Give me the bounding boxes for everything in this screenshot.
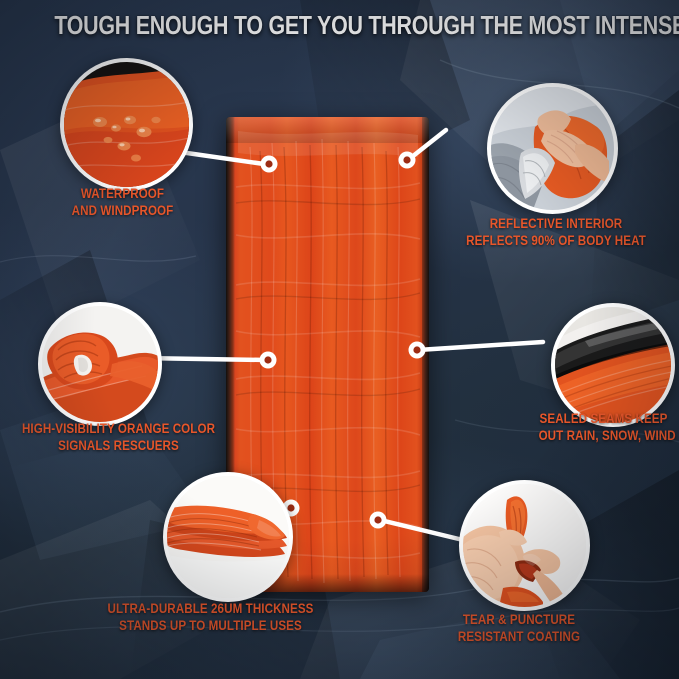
page-title: TOUGH ENOUGH TO GET YOU THROUGH THE MOST… [54, 14, 624, 40]
feature-label-high-visibility-line2: SIGNALS RESCUERS [13, 437, 224, 454]
feature-label-tear-resistant-line1: TEAR & PUNCTURE [463, 612, 575, 627]
feature-label-tear-resistant-line2: RESISTANT COATING [437, 628, 600, 645]
feature-label-ultra-durable: ULTRA-DURABLE 26UM THICKNESS STANDS UP T… [103, 600, 319, 634]
feature-label-sealed-seams-line2: OUT RAIN, SNOW, WIND [539, 427, 669, 444]
feature-label-ultra-durable-line1: ULTRA-DURABLE 26UM THICKNESS [107, 601, 313, 616]
callout-circle-high-visibility [38, 302, 162, 426]
product-infographic-poster: TOUGH ENOUGH TO GET YOU THROUGH THE MOST… [0, 0, 679, 679]
callout-circle-waterproof [60, 58, 193, 191]
feature-label-high-visibility: HIGH-VISIBILITY ORANGE COLOR SIGNALS RES… [13, 420, 224, 454]
feature-label-waterproof: WATERPROOF AND WINDPROOF [49, 185, 196, 219]
feature-label-sealed-seams: SEALED SEAMS KEEP OUT RAIN, SNOW, WIND [539, 410, 669, 444]
folded-orange-bivy-icon [42, 306, 158, 422]
hand-puncture-test-icon [463, 484, 586, 607]
feature-label-reflective-interior-line1: REFLECTIVE INTERIOR [490, 216, 623, 231]
feature-label-reflective-interior: REFLECTIVE INTERIOR REFLECTS 90% OF BODY… [455, 215, 658, 249]
callout-circle-reflective-interior [487, 83, 618, 214]
feature-label-waterproof-line2: AND WINDPROOF [49, 202, 196, 219]
callout-circle-ultra-durable [163, 472, 293, 602]
person-wrapped-in-bivy-icon [491, 87, 614, 210]
feature-label-sealed-seams-line1: SEALED SEAMS KEEP [540, 411, 668, 426]
feature-label-tear-resistant: TEAR & PUNCTURE RESISTANT COATING [437, 611, 600, 645]
feature-label-ultra-durable-line2: STANDS UP TO MULTIPLE USES [103, 617, 319, 634]
black-seam-tape-icon [555, 307, 671, 423]
water-droplets-beading-icon [64, 62, 189, 187]
stacked-material-layers-icon [167, 476, 289, 598]
feature-label-waterproof-line1: WATERPROOF [81, 186, 164, 201]
callout-circle-tear-resistant [459, 480, 590, 611]
feature-label-reflective-interior-line2: REFLECTS 90% OF BODY HEAT [455, 232, 658, 249]
feature-label-high-visibility-line1: HIGH-VISIBILITY ORANGE COLOR [22, 421, 215, 436]
callout-circle-sealed-seams [551, 303, 675, 427]
